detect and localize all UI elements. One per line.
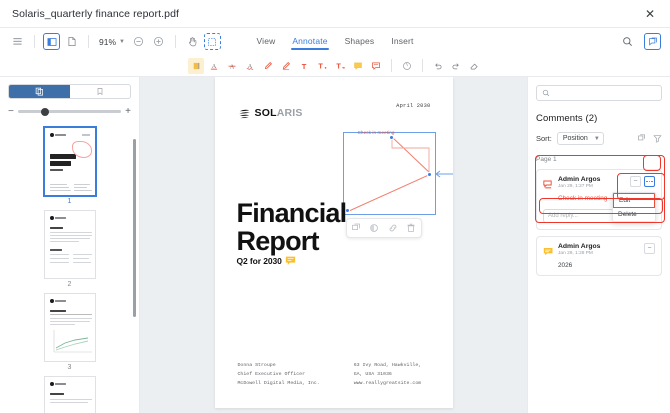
title-bar: Solaris_quarterly finance report.pdf ✕ [0, 0, 670, 28]
footer-name: Donna Stroupe [238, 361, 320, 370]
comment-type-icon [543, 244, 554, 254]
highlighter-pen-tool-icon[interactable] [260, 58, 276, 74]
comment-meta: Admin Argos Jan 29, 1:27 PM [558, 176, 626, 189]
comment-header: Admin Argos Jan 29, 1:28 PM − [543, 243, 655, 256]
comments-page-label: Page 1 [536, 156, 662, 163]
slider-knob[interactable] [41, 108, 49, 116]
document-page-1[interactable]: SOLARIS April 2030 Check in meeting [215, 77, 453, 408]
thumb-heading [50, 227, 63, 229]
document-filename: Solaris_quarterly finance report.pdf [12, 8, 179, 20]
filter-comments-icon[interactable] [653, 134, 662, 143]
eraser-tool-icon[interactable] [466, 58, 482, 74]
tab-annotate[interactable]: Annotate [292, 34, 327, 50]
sort-value: Position [563, 135, 588, 142]
comments-search-field[interactable] [554, 90, 656, 97]
shape-handle-top[interactable] [389, 135, 394, 140]
page-view-icon[interactable] [63, 33, 80, 50]
sticky-note-marker-icon[interactable] [285, 256, 296, 266]
thumb-logo [50, 133, 67, 137]
svg-text:A: A [230, 63, 235, 70]
document-subtitle: Q2 for 2030 [237, 256, 282, 266]
toolbar-divider-2 [88, 35, 89, 48]
thumbnail-sidebar: − + [0, 77, 140, 413]
svg-text:T: T [318, 61, 323, 70]
thumbnail-size-slider[interactable] [18, 106, 121, 117]
comment-author: Admin Argos [558, 176, 626, 183]
thumb-subheading [50, 249, 62, 251]
highlight-select-tool-icon[interactable] [188, 58, 204, 74]
document-date: April 2030 [396, 103, 430, 109]
thumb-heading-1 [50, 154, 76, 159]
comment-actions: − [630, 176, 655, 187]
comment-type-icon [543, 177, 554, 187]
text-replace-tool-icon[interactable]: T [332, 58, 348, 74]
footer-left-column: Donna Stroupe Chief Executive Officer Mc… [238, 361, 320, 388]
redo-tool-icon[interactable] [448, 58, 464, 74]
sort-label: Sort: [536, 134, 552, 143]
comments-sort-row: Sort: Position ▼ [536, 132, 662, 145]
thumb-logo [50, 382, 67, 386]
thumb-foot-6 [74, 190, 92, 191]
comment-card[interactable]: Admin Argos Jan 29, 1:28 PM − 2026 [536, 236, 662, 276]
ann-divider-1 [391, 59, 392, 72]
squiggly-underline-tool-icon[interactable]: A [242, 58, 258, 74]
toolbar-divider [34, 35, 35, 48]
thumbnail-item[interactable]: 2 [44, 210, 96, 288]
comment-options-menu: Edit Delete [612, 192, 656, 222]
document-logo-text: SOLARIS [255, 107, 303, 119]
more-dots-icon [646, 181, 653, 183]
document-viewport[interactable]: SOLARIS April 2030 Check in meeting [140, 77, 527, 413]
main-toolbar: 91% ▼ View Annotate Shapes Insert [0, 28, 670, 55]
thumb-heading [50, 310, 66, 312]
thumbnails-tab[interactable] [9, 85, 70, 98]
search-icon[interactable] [619, 33, 636, 50]
editor-body: − + [0, 77, 670, 413]
comment-header: Admin Argos Jan 29, 1:27 PM − [543, 176, 655, 189]
comment-card[interactable]: Admin Argos Jan 29, 1:27 PM − Check in m… [536, 169, 662, 230]
zoom-in-icon[interactable] [150, 33, 167, 50]
thumbnail-item[interactable]: 4 [44, 376, 96, 413]
link-icon[interactable] [387, 222, 399, 234]
comment-more-options-button[interactable] [644, 176, 655, 187]
underline-tool-icon[interactable]: A [206, 58, 222, 74]
comment-meta: Admin Argos Jan 29, 1:28 PM [558, 243, 640, 256]
comment-text: 2026 [558, 262, 655, 269]
thumb-heading [50, 393, 64, 395]
document-title: Financial Report [237, 199, 347, 255]
expand-all-comments-icon[interactable] [637, 134, 646, 143]
thumbnail-page-1[interactable] [44, 127, 96, 196]
solaris-mark-icon [238, 107, 251, 119]
search-icon [542, 89, 550, 97]
comment-timestamp: Jan 29, 1:27 PM [558, 184, 626, 189]
comment-author: Admin Argos [558, 243, 640, 250]
hand-tool-icon[interactable] [184, 33, 201, 50]
document-logo: SOLARIS [238, 107, 303, 119]
thumb-logo [50, 216, 67, 220]
menu-icon[interactable] [9, 33, 26, 50]
shape-context-toolbar [346, 218, 422, 238]
text-tool-icon[interactable]: T [296, 58, 312, 74]
thumbnail-zoom-in-icon[interactable]: + [125, 107, 131, 117]
thumb-foot-5 [74, 187, 87, 188]
thumbnail-zoom-out-icon[interactable]: − [8, 107, 14, 117]
thumb-subtitle [50, 169, 63, 171]
tab-view[interactable]: View [256, 34, 275, 50]
footer-address-2: GA, USA 31036 [354, 370, 422, 379]
thumb-date [82, 134, 90, 136]
stamp-tool-icon[interactable] [399, 58, 415, 74]
delete-icon[interactable] [405, 222, 417, 234]
document-subtitle-row: Q2 for 2030 [237, 256, 296, 266]
comment-timestamp: Jan 29, 1:28 PM [558, 251, 640, 256]
shape-annotation-selection[interactable]: Check in meeting [343, 132, 436, 215]
thumbnail-zoom-row: − + [0, 99, 139, 117]
ann-divider-2 [422, 59, 423, 72]
svg-text:T: T [336, 61, 341, 70]
zoom-level-value: 91% [99, 37, 116, 47]
comment-actions: − [644, 243, 655, 254]
footer-right-column: 63 Ivy Road, Hawkville, GA, USA 31036 ww… [354, 361, 422, 388]
footer-role: Chief Executive Officer [238, 370, 320, 379]
tab-shapes[interactable]: Shapes [345, 34, 375, 50]
footer-company: McDowell Digital Media, Inc. [238, 379, 320, 388]
logo-bold: SOL [255, 107, 277, 119]
strikethrough-tool-icon[interactable]: A [224, 58, 240, 74]
comments-panel-icon[interactable] [644, 33, 661, 50]
bookmarks-tab[interactable] [70, 85, 131, 98]
thumbnail-scrollbar[interactable] [133, 139, 136, 317]
thumb-logo [50, 299, 67, 303]
logo-light: ARIS [277, 107, 303, 119]
sidebar-tabs [8, 84, 131, 99]
document-title-line-2: Report [237, 227, 347, 255]
thumbnail-number: 2 [68, 281, 72, 288]
thumb-foot-3 [50, 190, 71, 191]
annotation-toolbar: A A A T T T [0, 55, 670, 77]
thumb-foot-4 [74, 184, 90, 185]
close-icon[interactable]: ✕ [642, 6, 658, 22]
collapse-comment-button[interactable]: − [644, 243, 655, 254]
comment-tool-icon[interactable] [368, 58, 384, 74]
comments-search-input[interactable] [536, 85, 662, 101]
collapse-comment-button[interactable]: − [630, 176, 641, 187]
thumb-foot-2 [50, 187, 69, 188]
thumb-heading-2 [50, 161, 71, 166]
comments-heading: Comments (2) [536, 113, 662, 124]
chevron-down-icon: ▼ [594, 136, 600, 142]
menu-item-edit[interactable]: Edit [613, 193, 655, 208]
shape-color-icon[interactable] [368, 222, 380, 234]
select-area-icon[interactable] [204, 33, 221, 50]
slider-track [18, 110, 121, 113]
thumbnail-number: 3 [68, 364, 72, 371]
sticky-note-tool-icon[interactable] [350, 58, 366, 74]
thumbnail-number: 1 [68, 198, 72, 205]
document-footer: Donna Stroupe Chief Executive Officer Mc… [238, 361, 422, 388]
shape-handle-right[interactable] [427, 172, 432, 177]
thumbnail-page-4[interactable] [44, 376, 96, 413]
sidebar-toggle-icon[interactable] [43, 33, 60, 50]
document-title-line-1: Financial [237, 199, 347, 227]
zoom-level-control[interactable]: 91% ▼ [97, 37, 127, 47]
text-insert-tool-icon[interactable]: T [314, 58, 330, 74]
toolbar-divider-3 [175, 35, 176, 48]
thumbnail-page-3[interactable] [44, 293, 96, 362]
footer-website: www.reallygreatsite.com [354, 379, 422, 388]
undo-tool-icon[interactable] [430, 58, 446, 74]
thumb-foot-1 [50, 184, 67, 185]
chevron-down-icon: ▼ [119, 39, 125, 45]
shape-annotation-path [343, 132, 436, 215]
thumbnail-list: 1 [0, 117, 139, 413]
thumbnail-item[interactable]: 1 [44, 127, 96, 205]
thumb-chart [50, 330, 93, 356]
pdf-editor-window: Solaris_quarterly finance report.pdf ✕ 9… [0, 0, 670, 413]
footer-address-1: 63 Ivy Road, Hawkville, [354, 361, 422, 370]
zoom-out-icon[interactable] [130, 33, 147, 50]
menu-item-delete[interactable]: Delete [613, 208, 655, 221]
shape-style-icon[interactable] [350, 222, 362, 234]
comments-panel: Comments (2) Sort: Position ▼ Page 1 [527, 77, 670, 413]
svg-text:T: T [302, 61, 307, 70]
free-draw-pen-tool-icon[interactable] [278, 58, 294, 74]
sort-select[interactable]: Position ▼ [557, 132, 604, 145]
thumbnail-item[interactable]: 3 [44, 293, 96, 371]
tab-insert[interactable]: Insert [391, 34, 413, 50]
thumbnail-page-2[interactable] [44, 210, 96, 279]
